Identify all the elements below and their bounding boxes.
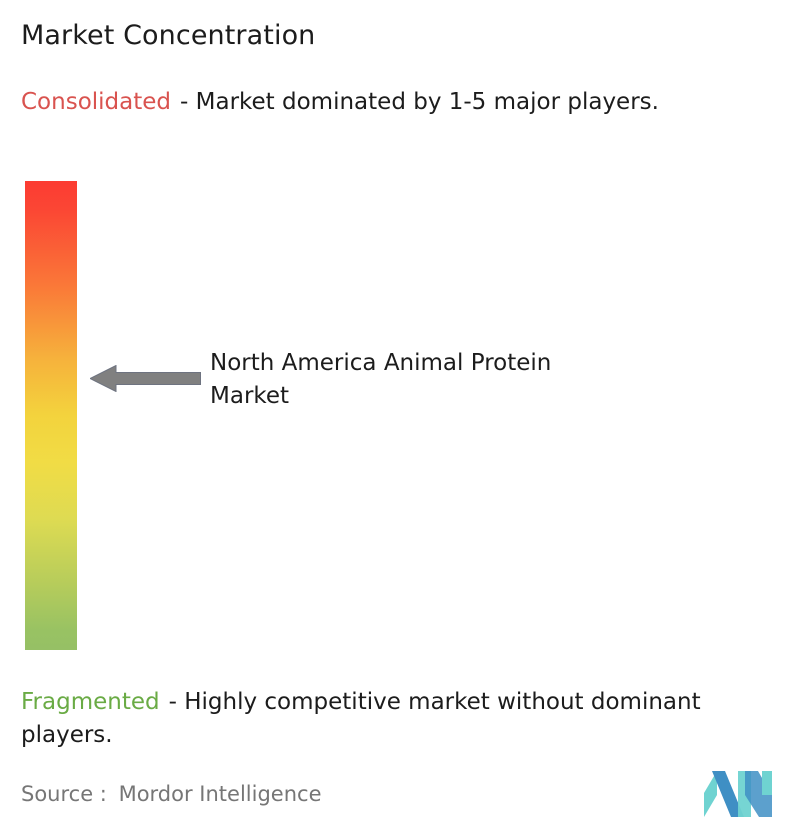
legend-fragmented-keyword: Fragmented (21, 689, 160, 715)
source-line: Source : Mordor Intelligence (21, 782, 321, 806)
legend-consolidated-keyword: Consolidated (21, 89, 171, 115)
concentration-gradient-bar (25, 181, 77, 650)
legend-fragmented-dash: - (169, 689, 177, 715)
legend-fragmented: Fragmented- Highly competitive market wi… (21, 686, 783, 752)
mordor-intelligence-logo (704, 771, 772, 817)
legend-consolidated-dash: - (180, 89, 188, 115)
callout-label: North America Animal Protein Market (210, 347, 570, 413)
market-concentration-infographic: Market Concentration Consolidated- Marke… (0, 0, 796, 834)
legend-consolidated-description: Market dominated by 1-5 major players. (196, 89, 659, 115)
source-name: Mordor Intelligence (119, 782, 322, 806)
source-label: Source : (21, 782, 107, 806)
arrow-left-icon (90, 365, 201, 392)
market-callout: North America Animal Protein Market (90, 347, 560, 419)
page-title: Market Concentration (21, 20, 315, 51)
legend-consolidated: Consolidated- Market dominated by 1-5 ma… (21, 86, 773, 119)
